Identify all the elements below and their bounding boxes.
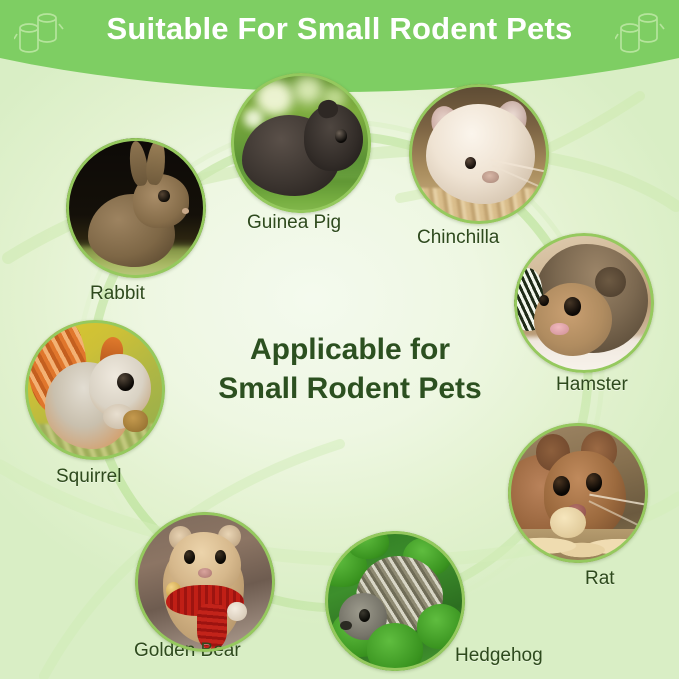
pet-label-guinea-pig: Guinea Pig	[247, 212, 341, 234]
page-title: Suitable For Small Rodent Pets	[0, 7, 679, 51]
pet-circle-rat[interactable]	[508, 423, 648, 563]
rabbit-photo	[66, 138, 206, 278]
pet-label-hamster: Hamster	[556, 374, 628, 396]
pet-circle-chinchilla[interactable]	[409, 84, 549, 224]
pet-label-squirrel: Squirrel	[56, 466, 121, 488]
golden-bear-photo	[135, 512, 275, 652]
pet-circle-rabbit[interactable]	[66, 138, 206, 278]
center-caption-line-1: Applicable for	[170, 330, 530, 369]
pet-circle-hedgehog[interactable]	[325, 531, 465, 671]
pet-circle-golden-bear[interactable]	[135, 512, 275, 652]
pet-label-golden-bear: Golden Bear	[134, 640, 241, 662]
pet-label-rat: Rat	[585, 568, 615, 590]
pet-label-rabbit: Rabbit	[90, 283, 145, 305]
rat-photo	[508, 423, 648, 563]
pet-label-chinchilla: Chinchilla	[417, 227, 499, 249]
guinea-pig-photo	[231, 73, 371, 213]
pet-circle-guinea-pig[interactable]	[231, 73, 371, 213]
hedgehog-photo	[325, 531, 465, 671]
center-caption-line-2: Small Rodent Pets	[170, 369, 530, 408]
promo-graphic: Suitable For Small Rodent Pets Applicabl…	[0, 0, 679, 679]
squirrel-photo	[25, 320, 165, 460]
pet-circle-hamster[interactable]	[514, 233, 654, 373]
hamster-photo	[514, 233, 654, 373]
center-caption: Applicable for Small Rodent Pets	[170, 330, 530, 408]
pet-circle-squirrel[interactable]	[25, 320, 165, 460]
pet-label-hedgehog: Hedgehog	[455, 645, 543, 667]
chinchilla-photo	[409, 84, 549, 224]
